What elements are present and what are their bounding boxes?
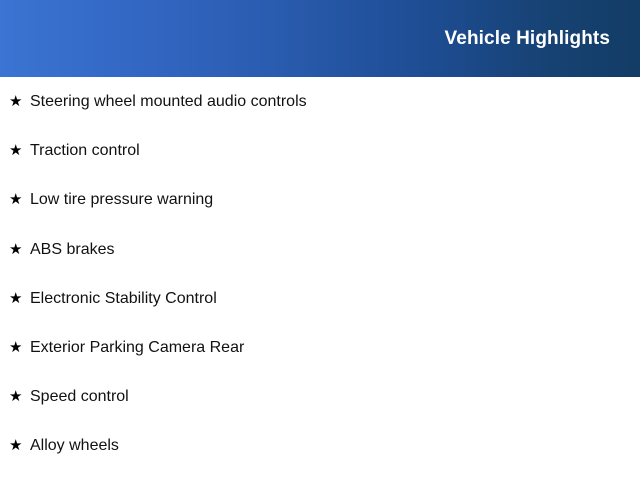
list-item-label: Traction control	[30, 141, 140, 160]
star-icon: ★	[9, 291, 30, 306]
star-icon: ★	[9, 192, 30, 207]
list-item-label: Speed control	[30, 387, 129, 406]
list-item: ★ Traction control	[0, 126, 640, 175]
list-item-label: Steering wheel mounted audio controls	[30, 92, 307, 111]
star-icon: ★	[9, 389, 30, 404]
list-item: ★ Speed control	[0, 372, 640, 421]
list-item-label: ABS brakes	[30, 240, 114, 259]
star-icon: ★	[9, 438, 30, 453]
list-item: ★ Exterior Parking Camera Rear	[0, 323, 640, 372]
list-item: ★ Steering wheel mounted audio controls	[0, 77, 640, 126]
star-icon: ★	[9, 242, 30, 257]
star-icon: ★	[9, 340, 30, 355]
list-item: ★ Alloy wheels	[0, 421, 640, 470]
star-icon: ★	[9, 143, 30, 158]
list-item: ★ Low tire pressure warning	[0, 175, 640, 224]
list-item-label: Low tire pressure warning	[30, 190, 213, 209]
vehicle-highlights-page: Vehicle Highlights ★ Steering wheel moun…	[0, 0, 640, 480]
star-icon: ★	[9, 94, 30, 109]
page-title: Vehicle Highlights	[445, 29, 610, 48]
page-header: Vehicle Highlights	[0, 0, 640, 77]
list-item-label: Electronic Stability Control	[30, 289, 217, 308]
list-item-label: Exterior Parking Camera Rear	[30, 338, 244, 357]
list-item: ★ Electronic Stability Control	[0, 274, 640, 323]
list-item: ★ ABS brakes	[0, 225, 640, 274]
list-item-label: Alloy wheels	[30, 436, 119, 455]
vehicle-highlights-list: ★ Steering wheel mounted audio controls …	[0, 77, 640, 471]
